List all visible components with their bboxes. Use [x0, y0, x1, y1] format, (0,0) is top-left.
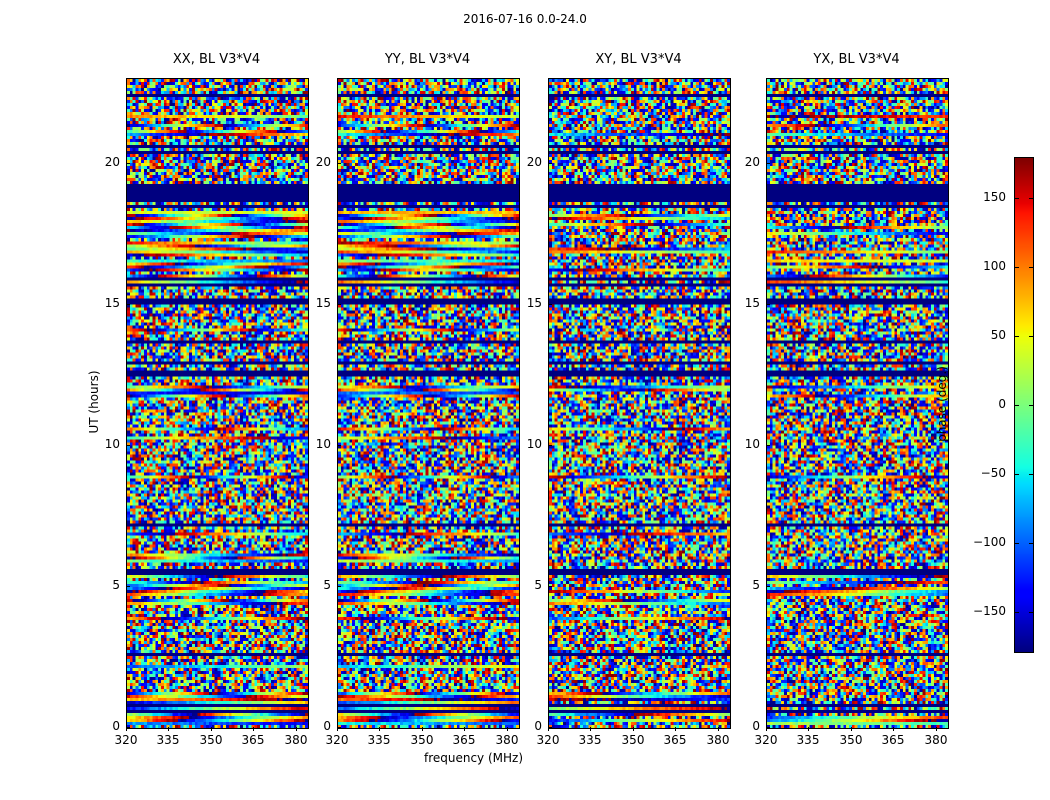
y-tick-mark [548, 445, 552, 446]
waterfall-image-xy [549, 79, 730, 728]
colorbar-tick-mark [1029, 405, 1034, 406]
y-tick-label: 5 [289, 578, 331, 592]
waterfall-image-xx [127, 79, 308, 728]
colorbar-tick-mark [1029, 336, 1034, 337]
colorbar-tick-mark [1029, 474, 1034, 475]
x-tick-mark [808, 727, 809, 731]
y-tick-label: 5 [500, 578, 542, 592]
colorbar-tick-mark [1014, 474, 1019, 475]
waterfall-panel-xy[interactable] [548, 78, 731, 729]
colorbar-tick-mark [1014, 543, 1019, 544]
y-tick-label: 20 [500, 155, 542, 169]
y-tick-label: 5 [78, 578, 120, 592]
y-axis-label: UT (hours) [87, 302, 101, 502]
y-tick-label: 0 [500, 719, 542, 733]
colorbar-tick-mark [1029, 543, 1034, 544]
x-tick-mark [590, 727, 591, 731]
x-tick-mark [211, 727, 212, 731]
y-tick-label: 0 [78, 719, 120, 733]
y-tick-mark [337, 163, 341, 164]
x-tick-mark [379, 727, 380, 731]
waterfall-image-yx [767, 79, 948, 728]
colorbar-tick-label: −150 [958, 604, 1006, 618]
colorbar-tick-mark [1014, 198, 1019, 199]
y-tick-mark [766, 445, 770, 446]
y-tick-mark [766, 163, 770, 164]
y-tick-label: 15 [500, 296, 542, 310]
y-tick-label: 0 [718, 719, 760, 733]
x-axis-label: frequency (MHz) [0, 751, 947, 765]
x-tick-mark [893, 727, 894, 731]
x-tick-mark [422, 727, 423, 731]
colorbar-label: phase (deg.) [935, 304, 949, 504]
x-tick-mark [936, 727, 937, 731]
x-tick-label: 380 [693, 733, 743, 747]
y-tick-mark [126, 163, 130, 164]
x-tick-mark [337, 727, 338, 731]
figure-suptitle: 2016-07-16 0.0-24.0 [0, 12, 1050, 26]
colorbar-tick-mark [1029, 612, 1034, 613]
y-tick-label: 10 [289, 437, 331, 451]
x-tick-mark [253, 727, 254, 731]
colorbar-tick-mark [1029, 198, 1034, 199]
x-tick-mark [766, 727, 767, 731]
y-tick-label: 15 [289, 296, 331, 310]
panel-title-xy: XY, BL V3*V4 [548, 52, 729, 67]
y-tick-mark [337, 445, 341, 446]
y-tick-mark [337, 304, 341, 305]
colorbar-tick-label: 50 [958, 328, 1006, 342]
y-tick-label: 0 [289, 719, 331, 733]
x-tick-mark [851, 727, 852, 731]
y-tick-label: 15 [718, 296, 760, 310]
colorbar-tick-label: 0 [958, 397, 1006, 411]
x-tick-mark [675, 727, 676, 731]
x-tick-mark [464, 727, 465, 731]
y-tick-label: 20 [718, 155, 760, 169]
colorbar-tick-mark [1014, 336, 1019, 337]
figure-canvas: 2016-07-16 0.0-24.0 XX, BL V3*V405101520… [0, 0, 1050, 800]
waterfall-panel-yx[interactable] [766, 78, 949, 729]
y-tick-label: 10 [500, 437, 542, 451]
y-tick-label: 10 [718, 437, 760, 451]
colorbar-tick-label: −50 [958, 466, 1006, 480]
y-tick-label: 5 [718, 578, 760, 592]
y-tick-mark [548, 163, 552, 164]
y-tick-label: 20 [289, 155, 331, 169]
colorbar-tick-mark [1014, 405, 1019, 406]
y-tick-mark [126, 304, 130, 305]
colorbar-tick-label: 100 [958, 259, 1006, 273]
y-tick-mark [548, 586, 552, 587]
waterfall-panel-yy[interactable] [337, 78, 520, 729]
panel-title-yy: YY, BL V3*V4 [337, 52, 518, 67]
y-tick-mark [126, 586, 130, 587]
colorbar-tick-label: −100 [958, 535, 1006, 549]
y-tick-mark [766, 304, 770, 305]
colorbar-tick-mark [1029, 267, 1034, 268]
colorbar-tick-mark [1014, 267, 1019, 268]
y-tick-label: 20 [78, 155, 120, 169]
x-tick-mark [548, 727, 549, 731]
colorbar-tick-mark [1014, 612, 1019, 613]
y-tick-mark [337, 586, 341, 587]
y-tick-mark [126, 445, 130, 446]
waterfall-image-yy [338, 79, 519, 728]
y-tick-mark [766, 586, 770, 587]
x-tick-mark [633, 727, 634, 731]
y-tick-mark [548, 304, 552, 305]
panel-title-xx: XX, BL V3*V4 [126, 52, 307, 67]
x-tick-mark [126, 727, 127, 731]
x-tick-label: 380 [911, 733, 961, 747]
panel-title-yx: YX, BL V3*V4 [766, 52, 947, 67]
x-tick-mark [168, 727, 169, 731]
waterfall-panel-xx[interactable] [126, 78, 309, 729]
colorbar-tick-label: 150 [958, 190, 1006, 204]
